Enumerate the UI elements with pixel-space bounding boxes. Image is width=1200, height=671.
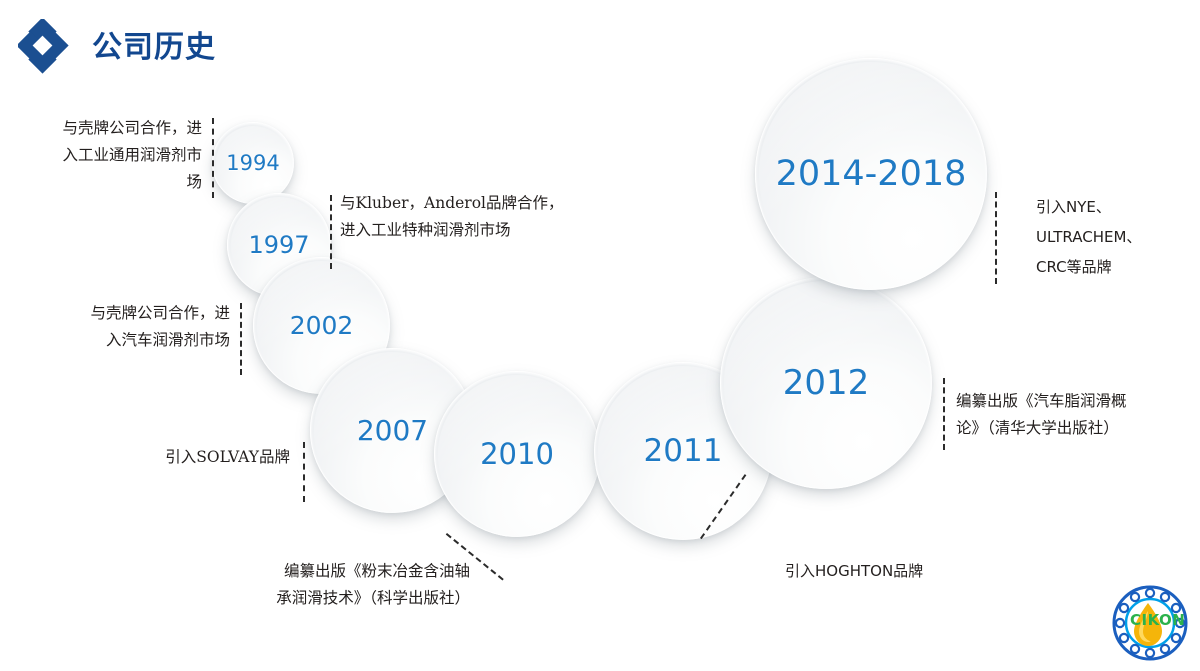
milestone-note-2011: 引入HOGHTON品牌 [785,558,1045,584]
leader-dash-2007 [303,442,305,502]
milestone-year-label: 2007 [357,414,428,447]
milestone-circle-2012[interactable]: 2012 [720,277,932,489]
milestone-circle-2014-2018[interactable]: 2014-2018 [755,58,987,290]
leader-dash-1997 [330,195,332,269]
milestone-year-label: 2012 [783,363,870,403]
milestone-year-label: 1997 [248,231,309,259]
page-title: 公司历史 [92,26,216,70]
milestone-year-label: 2002 [290,311,354,340]
milestone-year-label: 1994 [226,151,279,175]
leader-dash-2002 [240,303,242,375]
milestone-year-label: 2010 [480,437,554,471]
milestone-note-1997: 与Kluber，Anderol品牌合作， 进入工业特种润滑剂市场 [340,190,640,244]
milestone-note-1994: 与壳牌公司合作，进 入工业通用润滑剂市 场 [10,115,202,196]
milestone-circle-1994[interactable]: 1994 [212,122,294,204]
slide-canvas: 公司历史 1994 1997 2002 2007 2010 2011 2012 … [0,0,1200,671]
cikon-bearing-oildrop-logo-icon: CIKON [1108,581,1192,665]
milestone-note-2007: 引入SOLVAY品牌 [90,444,290,471]
milestone-note-2014-2018: 引入NYE、 ULTRACHEM、 CRC等品牌 [1036,192,1200,282]
leader-dash-2014-2018 [995,192,997,284]
diamond-cluster-logo-icon [18,19,76,77]
leader-dash-1994 [212,118,214,198]
milestone-year-label: 2011 [644,433,723,469]
milestone-year-label: 2014-2018 [776,154,967,194]
leader-dash-2012 [943,378,945,450]
milestone-circle-2010[interactable]: 2010 [434,371,600,537]
milestone-note-2010: 编纂出版《粉末冶金含油轴 承润滑技术》（科学出版社） [170,558,470,612]
slide-header: 公司历史 [0,0,1200,90]
milestone-note-2002: 与壳牌公司合作，进 入汽车润滑剂市场 [40,300,230,354]
milestone-note-2012: 编纂出版《汽车脂润滑概 论》（清华大学出版社） [956,388,1196,442]
brand-wordmark: CIKON [1130,611,1185,629]
